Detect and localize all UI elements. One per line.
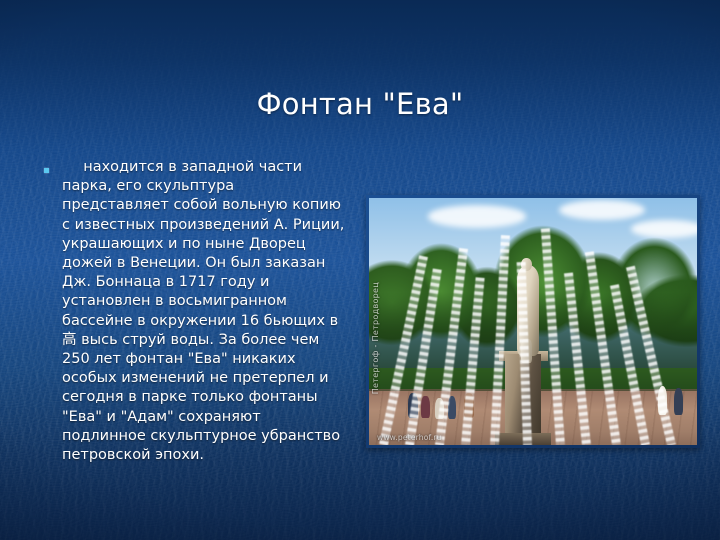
photo-frame: Петергоф - Петродворец www.peterhof.ru [366, 195, 700, 448]
photo-person [421, 396, 430, 418]
presentation-slide: Фонтан "Ева" находится в западной части … [0, 0, 720, 540]
square-bullet-icon [44, 168, 49, 173]
slide-body-block: находится в западной части парка, его ск… [40, 158, 345, 465]
photo-person [674, 388, 683, 415]
fountain-photo: Петергоф - Петродворец www.peterhof.ru [369, 198, 697, 445]
slide-title: Фонтан "Ева" [0, 86, 720, 122]
slide-body-text: находится в западной части парка, его ск… [62, 158, 345, 465]
photo-watermark-vertical: Петергоф - Петродворец [371, 282, 380, 394]
photo-watermark-url: www.peterhof.ru [377, 433, 442, 442]
